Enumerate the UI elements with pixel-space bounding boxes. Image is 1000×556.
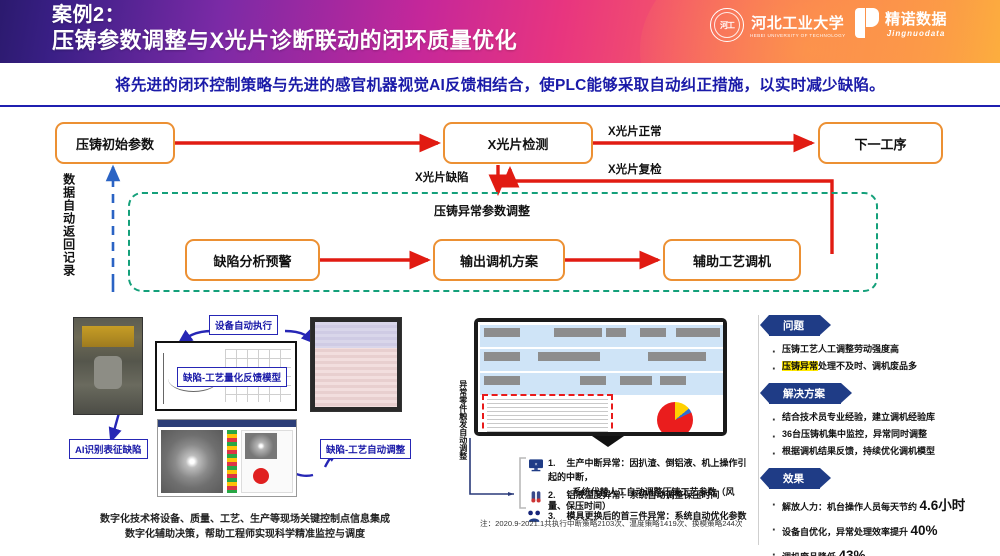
flowchart: 压铸初始参数 X光片检测 下一工序 X光片正常 X光片复检 X光片缺陷 数据自动… — [0, 107, 1000, 312]
monitor-icon: × — [529, 459, 542, 471]
item-text: 解放人力：机台操作人员每天节约 — [782, 502, 920, 512]
svg-text:×: × — [534, 462, 537, 468]
logo-hebei-university: 河工 河北工业大学 HEBEI UNIVERSITY OF TECHNOLOGY — [710, 8, 846, 42]
university-name-en: HEBEI UNIVERSITY OF TECHNOLOGY — [750, 33, 846, 38]
node-label: 压铸初始参数 — [76, 134, 154, 153]
dashboard-screen — [478, 322, 723, 432]
university-name-cn: 河北工业大学 — [751, 12, 844, 33]
item-text: 结合技术员专业经验，建立调机经验库 — [782, 412, 935, 422]
list-item: 根据调机结果反馈，持续优化调机模型 — [769, 443, 996, 460]
node-xray-detect[interactable]: X光片检测 — [443, 122, 593, 164]
node-label: 下一工序 — [854, 134, 906, 153]
item-text-line1: 铝液温度异常：系统自动调整保压时间 — [567, 490, 720, 500]
company-logo-text: 精诺数据 Jingnuodata — [885, 8, 947, 38]
center-dashboard-section: 异常零件触发自动调整 × 1. 生产中断异常：因扒渣、倒铝液、机上操作引起的中断… — [462, 318, 752, 533]
label-xray-normal: X光片正常 — [608, 123, 662, 139]
center-item-2: 2. 铝液温度异常：系统自动调整保压时间 — [548, 488, 720, 502]
list-item: 结合技术员专业经验，建立调机经验库 — [769, 409, 996, 426]
item-text: 36台压铸机集中监控，异常同时调整 — [782, 429, 927, 439]
xray-status-dot — [253, 468, 269, 484]
footer-line-2: 数字化辅助决策，帮助工程师实现科学精准监控与调度 — [60, 527, 430, 542]
xray-window-titlebar — [158, 420, 296, 427]
subtitle-banner: 将先进的闭环控制策略与先进的感官机器视觉AI反馈相结合，使PLC能够采取自动纠正… — [0, 63, 1000, 107]
solutions-list: 结合技术员专业经验，建立调机经验库 36台压铸机集中监控，异常同时调整 根据调机… — [769, 409, 996, 459]
label-xray-defect: X光片缺陷 — [415, 169, 469, 185]
university-seal-icon: 河工 — [710, 8, 744, 42]
section-solutions: 解决方案 结合技术员专业经验，建立调机经验库 36台压铸机集中监控，异常同时调整… — [769, 383, 996, 459]
node-label: 辅助工艺调机 — [693, 251, 771, 270]
item-metric: 40% — [911, 523, 938, 538]
group-title-label: 压铸异常参数调整 — [434, 202, 530, 219]
list-item: 调机废品降低 43% — [769, 544, 996, 556]
list-item: 设备自优化，异常处理效率提升 40% — [769, 519, 996, 544]
item-number: 2. — [548, 490, 556, 500]
dashboard-row — [480, 349, 723, 371]
item-text-highlight: 压铸异常 — [782, 361, 818, 371]
item-text-line1: 生产中断异常：因扒渣、倒铝液、机上操作引起的中断， — [548, 458, 747, 482]
item-text: 设备自优化，异常处理效率提升 — [782, 527, 911, 537]
photo-die-casting-machine — [73, 317, 143, 415]
list-item: 压铸工艺人工调整劳动强度高 — [769, 341, 996, 358]
section-title-effects: 效果 — [769, 468, 820, 489]
xray-grade-strip — [227, 430, 237, 493]
photo-monitor-table — [310, 317, 402, 412]
item-text: 调机废品降低 — [782, 552, 839, 556]
table-rows-placeholder — [487, 399, 608, 432]
logo-jingnuodata: 精诺数据 Jingnuodata — [855, 8, 947, 38]
monitor-stand — [592, 436, 624, 447]
jingnuo-mark-icon — [855, 8, 879, 38]
node-label: X光片检测 — [488, 134, 549, 153]
dashboard-monitor — [474, 318, 727, 436]
xray-image-main — [161, 430, 223, 493]
caption-model: 缺陷-工艺量化反馈模型 — [177, 367, 287, 387]
problems-list: 压铸工艺人工调整劳动强度高 压铸异常处理不及时、调机废品多 — [769, 341, 996, 374]
slide-header: 案例2： 压铸参数调整与X光片诊断联动的闭环质量优化 河工 河北工业大学 HEB… — [0, 0, 1000, 63]
node-initial-params[interactable]: 压铸初始参数 — [55, 122, 175, 164]
node-next-process[interactable]: 下一工序 — [818, 122, 943, 164]
item-metric: 4.6小时 — [920, 498, 966, 513]
list-item: 36台压铸机集中监控，异常同时调整 — [769, 426, 996, 443]
photo-xray-software — [157, 419, 297, 497]
pie-chart — [657, 402, 693, 432]
company-name-cn: 精诺数据 — [885, 8, 947, 29]
monitor-screen-content — [315, 322, 397, 407]
caption-auto-adjust: 缺陷-工艺自动调整 — [320, 439, 411, 459]
footer-line-1: 数字化技术将设备、质量、工艺、生产等现场关键控制点信息集成 — [60, 512, 430, 527]
caption-auto-exec: 设备自动执行 — [209, 315, 278, 335]
title-line-2: 压铸参数调整与X光片诊断联动的闭环质量优化 — [52, 28, 517, 54]
center-note: 注：2020.9-2021.1共执行中断策略2103次、温度策略1419次、换模… — [480, 518, 743, 529]
section-title-problems: 问题 — [769, 315, 820, 336]
university-logo-text: 河北工业大学 HEBEI UNIVERSITY OF TECHNOLOGY — [750, 12, 846, 38]
section-effects: 效果 解放人力：机台操作人员每天节约 4.6小时 设备自优化，异常处理效率提升 … — [769, 468, 996, 556]
photo-cluster-footer: 数字化技术将设备、质量、工艺、生产等现场关键控制点信息集成 数字化辅助决策，帮助… — [60, 512, 430, 542]
node-output-plan[interactable]: 输出调机方案 — [433, 239, 565, 281]
section-problems: 问题 压铸工艺人工调整劳动强度高 压铸异常处理不及时、调机废品多 — [769, 315, 996, 374]
xray-thumbnail — [245, 433, 277, 459]
node-defect-analysis[interactable]: 缺陷分析预警 — [185, 239, 320, 281]
node-label: 缺陷分析预警 — [213, 251, 291, 270]
item-text: 压铸工艺人工调整劳动强度高 — [782, 344, 899, 354]
node-label: 输出调机方案 — [460, 251, 538, 270]
label-data-return: 数据自动返回记录 — [62, 173, 75, 277]
list-item: 解放人力：机台操作人员每天节约 4.6小时 — [769, 494, 996, 519]
center-item-1: 1. 生产中断异常：因扒渣、倒铝液、机上操作引起的中断， 系统代替人工自动调整压… — [548, 456, 752, 514]
caption-ai-detect: AI识别表征缺陷 — [69, 439, 148, 459]
item-number: 1. — [548, 458, 556, 468]
right-summary-panel: 问题 压铸工艺人工调整劳动强度高 压铸异常处理不及时、调机废品多 解决方案 结合… — [758, 315, 996, 545]
list-item: 压铸异常处理不及时、调机废品多 — [769, 358, 996, 375]
subtitle-text: 将先进的闭环控制策略与先进的感官机器视觉AI反馈相结合，使PLC能够采取自动纠正… — [115, 73, 885, 95]
seal-text: 河工 — [720, 20, 734, 31]
dashboard-row — [480, 325, 723, 347]
dashboard-row — [480, 373, 723, 395]
item-text: 根据调机结果反馈，持续优化调机模型 — [782, 446, 935, 456]
page-title: 案例2： 压铸参数调整与X光片诊断联动的闭环质量优化 — [52, 4, 517, 54]
label-xray-recheck: X光片复检 — [608, 161, 662, 177]
slide-root: 案例2： 压铸参数调整与X光片诊断联动的闭环质量优化 河工 河北工业大学 HEB… — [0, 0, 1000, 556]
title-line-1: 案例2： — [52, 4, 517, 28]
section-title-solutions: 解决方案 — [769, 383, 841, 404]
effects-list: 解放人力：机台操作人员每天节约 4.6小时 设备自优化，异常处理效率提升 40%… — [769, 494, 996, 556]
node-assist-adjust[interactable]: 辅助工艺调机 — [663, 239, 801, 281]
highlight-region-table — [482, 394, 613, 432]
item-metric: 43% — [839, 548, 866, 556]
company-name-en: Jingnuodata — [887, 29, 946, 38]
thermometer-icon — [529, 490, 542, 502]
xray-side-panel — [241, 430, 293, 493]
item-text: 处理不及时、调机废品多 — [818, 361, 917, 371]
